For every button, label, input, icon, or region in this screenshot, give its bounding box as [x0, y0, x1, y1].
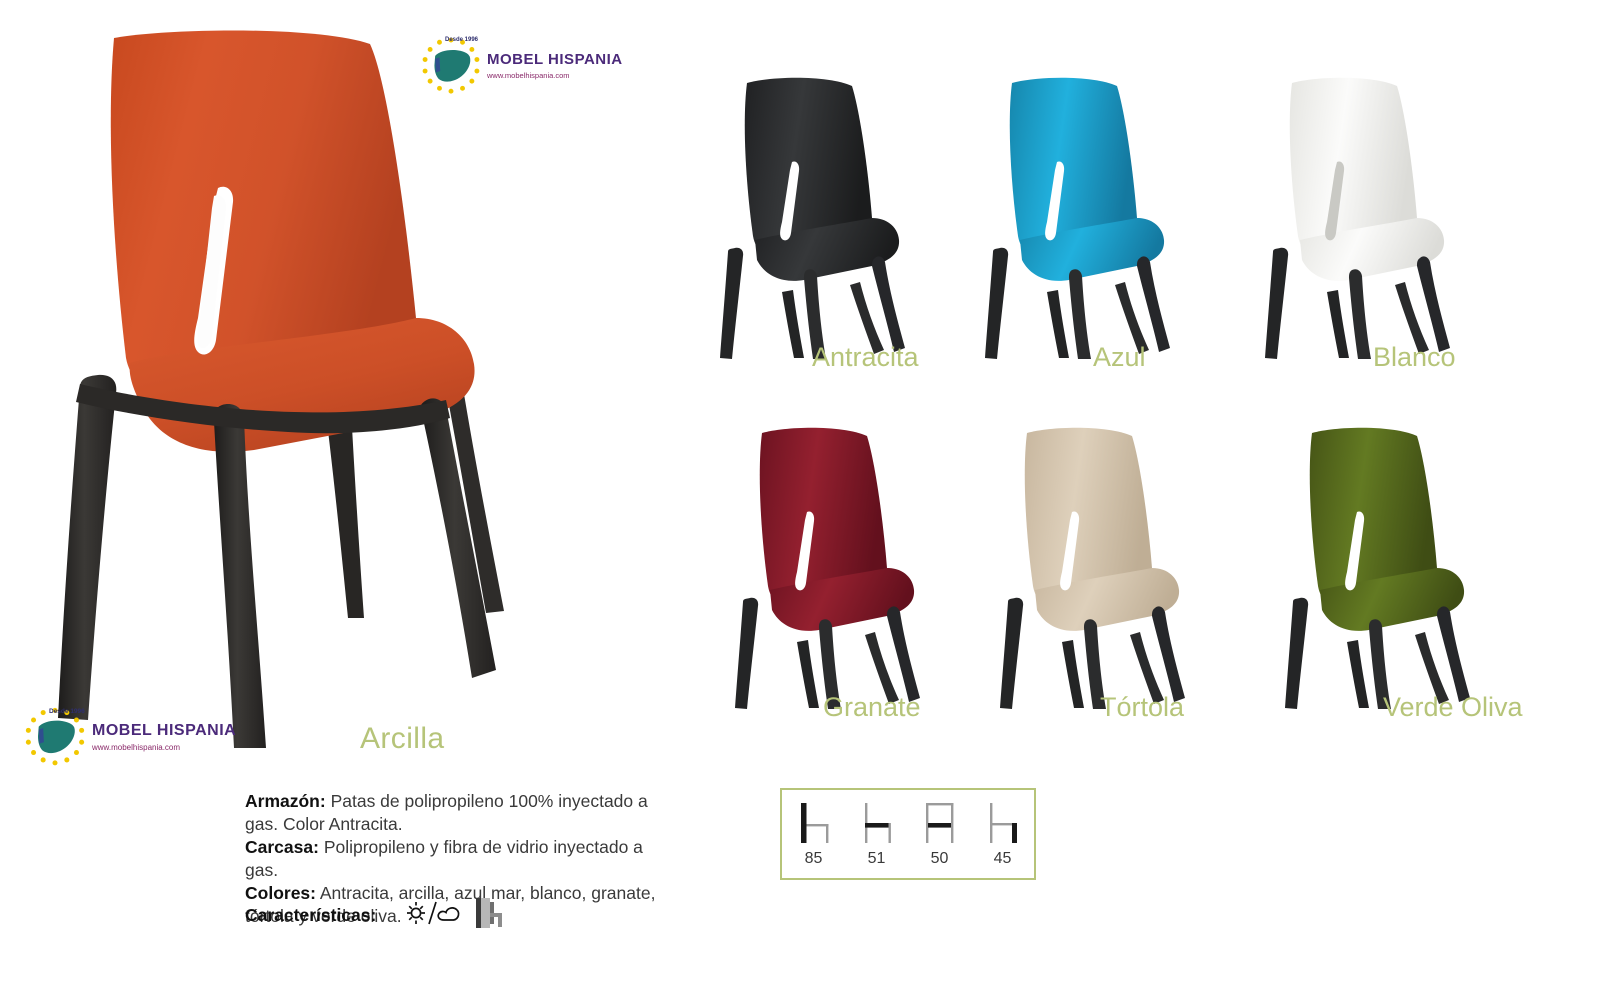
dimension-item: 50	[911, 798, 969, 868]
dimension-value: 45	[994, 850, 1012, 868]
swatch-granate: Granate	[715, 420, 945, 740]
swatch-verde-oliva: Verde Oliva	[1265, 420, 1505, 740]
dimension-pictogram-seat-depth	[854, 798, 900, 846]
swatch-label: Tórtola	[1100, 692, 1184, 723]
dimension-value: 51	[868, 850, 886, 868]
swatch-tortola: Tórtola	[980, 420, 1210, 740]
dimension-value: 85	[805, 850, 823, 868]
dimension-item: 51	[848, 798, 906, 868]
swatch-label: Verde Oliva	[1383, 692, 1523, 723]
spec-armazon: Armazón: Patas de polipropileno 100% iny…	[245, 790, 675, 836]
dimensions-box: 85 51 50	[780, 788, 1036, 880]
eu-stars-spain-map-icon: Desde 1996	[18, 700, 92, 774]
swatch-label: Blanco	[1373, 342, 1456, 373]
dimension-item: 85	[785, 798, 843, 868]
swatch-label: Granate	[823, 692, 921, 723]
catalog-page: Desde 1996 MOBEL HISPANIA www.mobelhispa…	[0, 0, 1600, 983]
dimension-pictogram-back-height	[791, 798, 837, 846]
dimension-item: 45	[974, 798, 1032, 868]
chair-thumbnail	[1265, 420, 1475, 710]
features-row: Características:	[245, 896, 504, 935]
spec-carcasa-label: Carcasa:	[245, 837, 319, 857]
features-label: Características:	[245, 905, 376, 926]
chair-thumbnail	[1245, 70, 1455, 360]
swatch-azul: Azul	[965, 70, 1195, 390]
swatch-antracita: Antracita	[700, 70, 930, 390]
sun-cloud-icon	[406, 899, 462, 932]
stackable-chair-icon	[474, 896, 504, 935]
hero-chair-image	[18, 18, 518, 758]
chair-thumbnail	[965, 70, 1175, 360]
chair-thumbnail	[700, 70, 910, 360]
dimension-pictogram-seat-width	[917, 798, 963, 846]
hero-color-label: Arcilla	[360, 722, 444, 756]
chair-thumbnail	[715, 420, 925, 710]
swatch-label: Antracita	[812, 342, 919, 373]
spec-carcasa: Carcasa: Polipropileno y fibra de vidrio…	[245, 836, 675, 882]
swatch-blanco: Blanco	[1245, 70, 1475, 390]
dimension-value: 50	[931, 850, 949, 868]
brand-url: www.mobelhispania.com	[92, 744, 236, 752]
swatch-label: Azul	[1093, 342, 1146, 373]
dimension-pictogram-seat-height	[980, 798, 1026, 846]
since-text: Desde 1996	[49, 708, 85, 715]
brand-name: MOBEL HISPANIA	[92, 723, 236, 739]
spec-armazon-label: Armazón:	[245, 791, 326, 811]
chair-thumbnail	[980, 420, 1190, 710]
brand-logo-bottom: Desde 1996 MOBEL HISPANIA www.mobelhispa…	[18, 700, 236, 774]
